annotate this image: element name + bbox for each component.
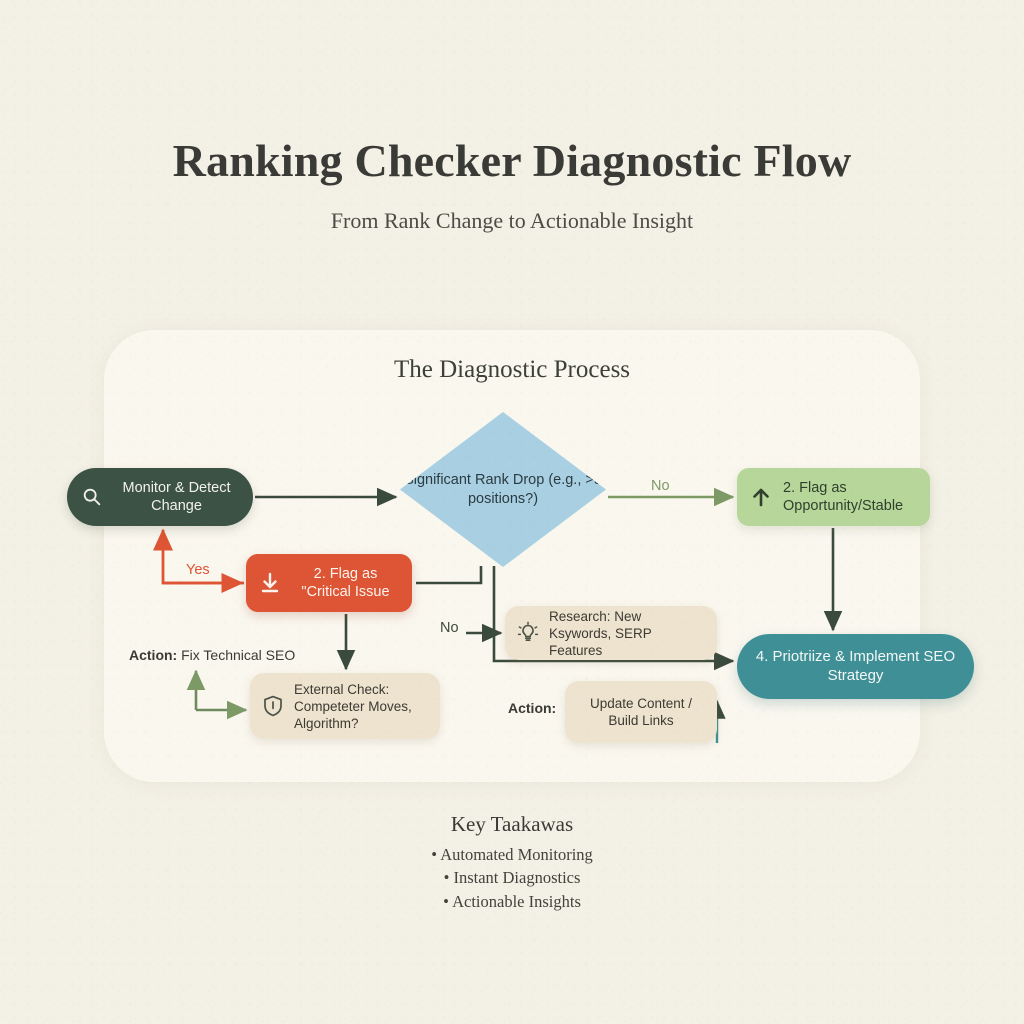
node-monitor-detect-change[interactable]: Monitor & Detect Change: [67, 468, 253, 526]
magnifier-icon: [81, 486, 103, 508]
arrow-up-icon: [749, 485, 773, 509]
node-label: Significant Rank Drop (e.g., >5 position…: [400, 471, 606, 508]
node-label: 4. Priotriize & Implement SEO Strategy: [751, 648, 960, 686]
edge-label-no-top: No: [651, 478, 670, 494]
edge-label-yes: Yes: [186, 562, 210, 578]
takeaways-title: Key Taakawas: [0, 812, 1024, 837]
edge-label-no-middle: No: [440, 620, 459, 636]
action-text: Fix Technical SEO: [177, 647, 295, 663]
node-external-check[interactable]: External Check: Competeter Moves, Algori…: [250, 673, 440, 739]
node-label: Monitor & Detect Change: [114, 479, 239, 516]
download-icon: [258, 571, 282, 595]
list-item: Actionable Insights: [0, 890, 1024, 913]
node-label: External Check: Competeter Moves, Algori…: [294, 681, 429, 732]
node-label: 2. Flag as Opportunity/Stable: [783, 479, 918, 516]
node-label: 2. Flag as "Critical Issue: [291, 565, 400, 602]
key-takeaways: Key Taakawas Automated Monitoring Instan…: [0, 812, 1024, 913]
node-update-content-build-links[interactable]: Update Content / Build Links: [565, 681, 717, 743]
node-prioritize-implement-seo-strategy[interactable]: 4. Priotriize & Implement SEO Strategy: [737, 634, 974, 699]
list-item: Automated Monitoring: [0, 843, 1024, 866]
list-item: Instant Diagnostics: [0, 866, 1024, 889]
action-caption-fix-technical-seo: Action: Fix Technical SEO: [129, 647, 295, 663]
node-flag-critical-issue[interactable]: 2. Flag as "Critical Issue: [246, 554, 412, 612]
action-caption-update-content: Action:: [508, 700, 556, 716]
action-prefix: Action:: [508, 700, 556, 716]
lightbulb-icon: [516, 621, 540, 645]
node-research-keywords[interactable]: Research: New Ksywords, SERP Features: [505, 606, 717, 660]
action-prefix: Action:: [129, 647, 177, 663]
node-label: Update Content / Build Links: [576, 695, 706, 729]
node-label: Research: New Ksywords, SERP Features: [549, 608, 706, 659]
shield-icon: [261, 694, 285, 718]
takeaways-list: Automated Monitoring Instant Diagnostics…: [0, 843, 1024, 913]
node-flag-opportunity-stable[interactable]: 2. Flag as Opportunity/Stable: [737, 468, 930, 526]
